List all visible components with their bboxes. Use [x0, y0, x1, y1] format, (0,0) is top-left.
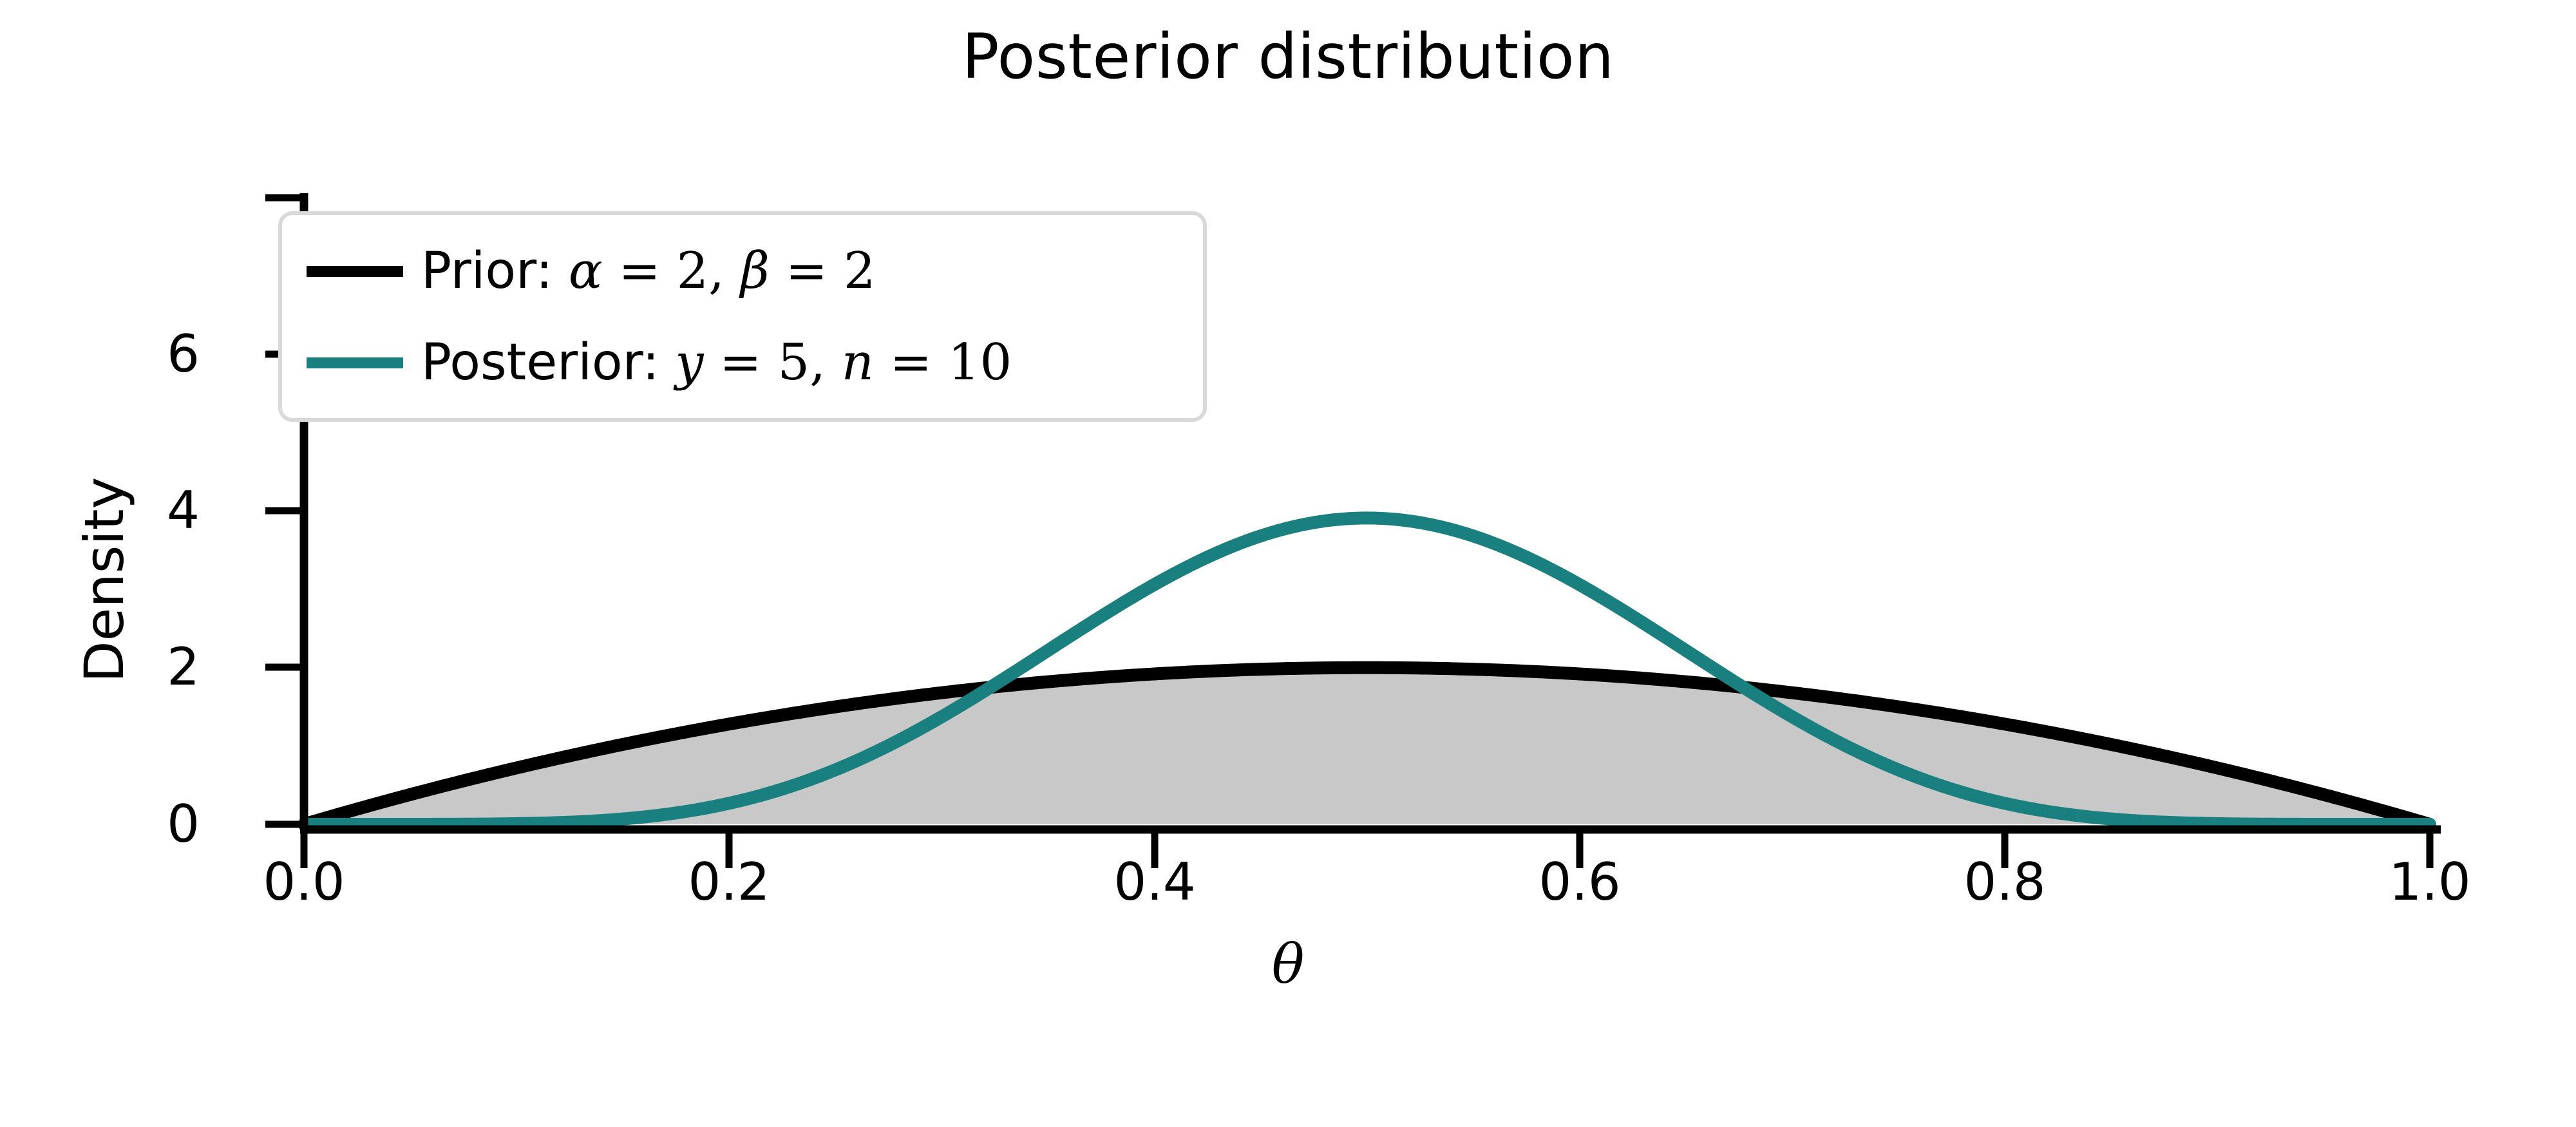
- legend-post-symbol-y: y: [675, 334, 703, 392]
- legend: Prior: α = 2, β = 2 Posterior: y = 5, n …: [278, 211, 1207, 422]
- x-tick-marks: [304, 829, 2430, 868]
- legend-prior-value1: 2,: [677, 242, 724, 300]
- legend-post-eq1: =: [704, 334, 778, 392]
- legend-prior-eq2: =: [770, 242, 844, 300]
- figure-canvas: Posterior distribution Density θ 0 2 4 6…: [0, 0, 2576, 1127]
- legend-post-symbol-n: n: [842, 334, 874, 392]
- legend-prior-symbol-beta: β: [741, 242, 770, 300]
- legend-prior-value2: 2: [844, 242, 876, 300]
- legend-swatch-prior: [307, 266, 403, 277]
- legend-prior-eq1: =: [603, 242, 677, 300]
- legend-post-eq2: =: [874, 334, 948, 392]
- legend-post-value1: 5,: [777, 334, 825, 392]
- legend-prior-head: Prior:: [421, 242, 569, 300]
- legend-post-head: Posterior:: [421, 334, 675, 392]
- plot-area: [0, 0, 2576, 1127]
- legend-swatch-posterior: [307, 357, 403, 368]
- legend-post-value2: 10: [948, 334, 1012, 392]
- series-layer: [304, 518, 2430, 824]
- legend-item-prior: Prior: α = 2, β = 2: [307, 246, 875, 296]
- legend-label-posterior: Posterior: y = 5, n = 10: [421, 337, 1012, 388]
- legend-label-prior: Prior: α = 2, β = 2: [421, 246, 875, 296]
- legend-prior-symbol-alpha: α: [569, 242, 603, 300]
- legend-item-posterior: Posterior: y = 5, n = 10: [307, 337, 1012, 388]
